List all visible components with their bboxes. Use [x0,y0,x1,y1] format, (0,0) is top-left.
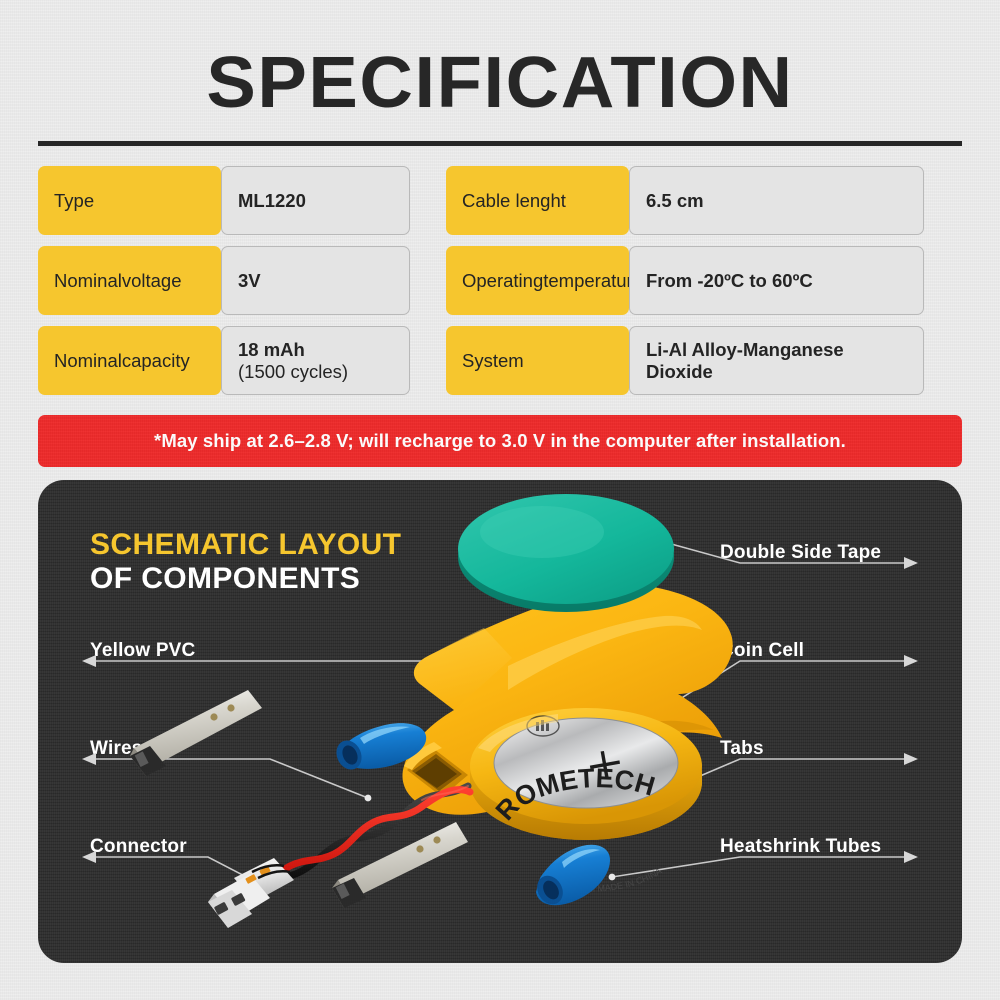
spec-value-nominal-voltage-main: 3V [238,270,261,292]
page-root: SPECIFICATION Type ML1220 Cable lenght 6… [0,0,1000,1000]
spec-value-type-main: ML1220 [238,190,306,212]
spec-key-operating-temperature: Operatingtemperature [446,246,629,315]
double-side-tape [458,494,674,612]
specification-table: Type ML1220 Cable lenght 6.5 cm Nominalv… [38,166,962,395]
spec-value-nominal-capacity: 18 mAh (1500 cycles) [221,326,410,395]
spec-value-system: Li-Al Alloy-Manganese Dioxide [629,326,924,395]
leader-arrowheads-right [904,557,918,863]
spec-value-system-sub: Dioxide [646,361,844,383]
spec-key-type: Type [38,166,221,235]
spec-key-nominal-capacity: Nominalcapacity [38,326,221,395]
spec-value-nominal-voltage: 3V [221,246,410,315]
grid-gutter [410,246,446,315]
spec-value-nominal-capacity-main: 18 mAh [238,339,348,361]
spec-key-nominal-voltage: Nominalvoltage [38,246,221,315]
spec-key-cable-length: Cable lenght [446,166,629,235]
schematic-panel: SCHEMATIC LAYOUT OF COMPONENTS Yellow PV… [38,480,962,963]
grid-gutter [410,166,446,235]
shipping-voltage-notice: *May ship at 2.6–2.8 V; will recharge to… [38,415,962,467]
spec-value-operating-temperature: From -20ºC to 60ºC [629,246,924,315]
spec-value-operating-temperature-main: From -20ºC to 60ºC [646,270,813,292]
heatshrink-tube-lower [532,845,610,909]
spec-value-cable-length: 6.5 cm [629,166,924,235]
battery-tab-upper [130,690,262,776]
schematic-illustration: ROMETECH 3V LITHIUM MADE IN CHINA [38,480,962,963]
spec-key-system: System [446,326,629,395]
spec-value-cable-length-main: 6.5 cm [646,190,704,212]
leader-arrowheads-left [82,655,96,863]
spec-value-nominal-capacity-group: 18 mAh (1500 cycles) [238,339,348,383]
spec-value-type: ML1220 [221,166,410,235]
spec-value-nominal-capacity-sub: (1500 cycles) [238,361,348,383]
page-title: SPECIFICATION [0,46,1000,120]
title-divider [38,141,962,146]
spec-value-system-main: Li-Al Alloy-Manganese [646,339,844,361]
jst-connector [208,858,294,928]
grid-gutter [410,326,446,395]
spec-value-system-group: Li-Al Alloy-Manganese Dioxide [646,339,844,383]
